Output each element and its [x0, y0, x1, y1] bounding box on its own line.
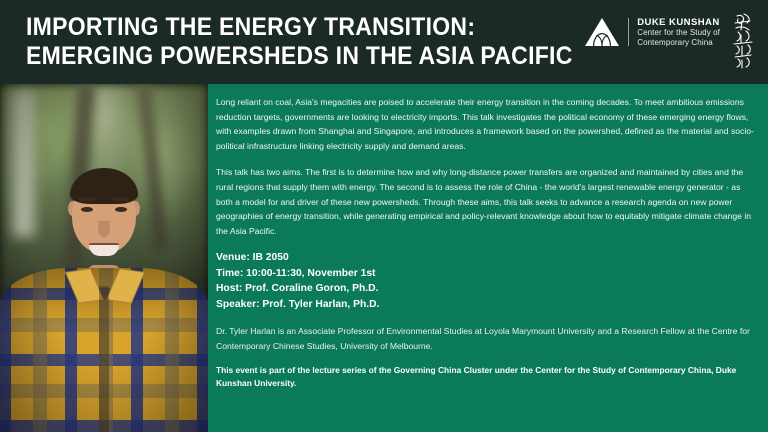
poster-body: Long reliant on coal, Asia's megacities … [216, 84, 756, 432]
logo-text: DUKE KUNSHAN Center for the Study of Con… [637, 17, 720, 47]
portrait-vignette [0, 84, 208, 432]
duke-kunshan-logo-lockup: DUKE KUNSHAN Center for the Study of Con… [584, 17, 720, 47]
speaker-portrait [0, 84, 208, 432]
event-detail-speaker: Speaker: Prof. Tyler Harlan, Ph.D. [216, 297, 756, 313]
speaker-bio: Dr. Tyler Harlan is an Associate Profess… [216, 324, 756, 352]
logo-center-line-1: Center for the Study of [637, 28, 720, 37]
lecture-series-note: This event is part of the lecture series… [216, 364, 756, 391]
logo-org-name: DUKE KUNSHAN [637, 17, 720, 28]
event-details: Venue: IB 2050 Time: 10:00-11:30, Novemb… [216, 250, 756, 312]
page-title-line-2: Emerging Powersheds in the Asia Pacific [26, 42, 541, 71]
logo-center-line-2: Contemporary China [637, 38, 720, 47]
page-title-line-1: Importing the Energy Transition: [26, 13, 541, 42]
poster-header: Importing the Energy Transition: Emergin… [0, 0, 768, 84]
event-detail-time: Time: 10:00-11:30, November 1st [216, 266, 756, 282]
duke-kunshan-triangle-mark-icon [584, 17, 620, 47]
abstract-paragraph-2: This talk has two aims. The first is to … [216, 165, 756, 238]
abstract-paragraph-1: Long reliant on coal, Asia's megacities … [216, 95, 756, 153]
page-title: Importing the Energy Transition: Emergin… [26, 13, 541, 71]
event-detail-venue: Venue: IB 2050 [216, 250, 756, 266]
event-poster: Importing the Energy Transition: Emergin… [0, 0, 768, 432]
event-detail-host: Host: Prof. Coraline Goron, Ph.D. [216, 281, 756, 297]
logo-divider [628, 18, 629, 46]
